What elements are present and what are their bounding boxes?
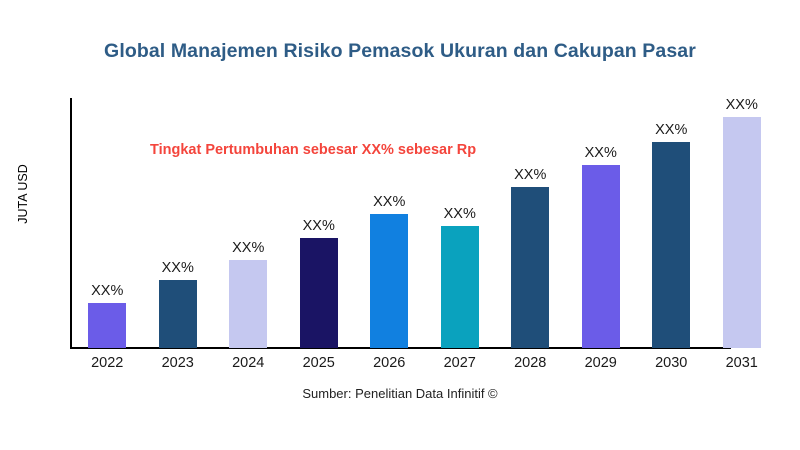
bar[interactable] <box>652 142 690 348</box>
x-axis-tick-label: 2031 <box>712 355 772 371</box>
x-axis-tick-label: 2027 <box>430 355 490 371</box>
bar[interactable] <box>159 280 197 348</box>
bar-group[interactable]: XX% <box>652 142 690 348</box>
bar-group[interactable]: XX% <box>159 280 197 348</box>
x-axis-tick-label: 2029 <box>571 355 631 371</box>
x-axis-tick-label: 2026 <box>359 355 419 371</box>
bar-group[interactable]: XX% <box>511 187 549 348</box>
x-axis-tick-label: 2025 <box>289 355 349 371</box>
bar-group[interactable]: XX% <box>723 117 761 348</box>
bar-value-label: XX% <box>303 218 335 234</box>
x-axis-tick-label: 2030 <box>641 355 701 371</box>
bar-value-label: XX% <box>91 283 123 299</box>
bar[interactable] <box>582 165 620 348</box>
bar-group[interactable]: XX% <box>582 165 620 348</box>
plot-area: XX%XX%XX%XX%XX%XX%XX%XX%XX%XX% <box>0 0 800 450</box>
bar-value-label: XX% <box>585 145 617 161</box>
bar-value-label: XX% <box>373 194 405 210</box>
bar-value-label: XX% <box>444 206 476 222</box>
bar[interactable] <box>441 226 479 348</box>
bar[interactable] <box>229 260 267 348</box>
bar-group[interactable]: XX% <box>229 260 267 348</box>
bar[interactable] <box>300 238 338 348</box>
growth-rate-annotation: Tingkat Pertumbuhan sebesar XX% sebesar … <box>150 142 476 158</box>
bar-group[interactable]: XX% <box>441 226 479 348</box>
bar[interactable] <box>370 214 408 348</box>
bar-value-label: XX% <box>162 260 194 276</box>
bar-group[interactable]: XX% <box>370 214 408 348</box>
bar-value-label: XX% <box>514 167 546 183</box>
source-note: Sumber: Penelitian Data Infinitif © <box>0 386 800 401</box>
x-axis-tick-label: 2023 <box>148 355 208 371</box>
bar-value-label: XX% <box>655 122 687 138</box>
x-axis-tick-label: 2024 <box>218 355 278 371</box>
x-axis-tick-label: 2022 <box>77 355 137 371</box>
bar-group[interactable]: XX% <box>88 303 126 348</box>
bar[interactable] <box>511 187 549 348</box>
bar[interactable] <box>723 117 761 348</box>
bar[interactable] <box>88 303 126 348</box>
x-axis-tick-label: 2028 <box>500 355 560 371</box>
bar-chart: Global Manajemen Risiko Pemasok Ukuran d… <box>0 0 800 450</box>
bar-value-label: XX% <box>726 97 758 113</box>
bar-value-label: XX% <box>232 240 264 256</box>
bar-group[interactable]: XX% <box>300 238 338 348</box>
